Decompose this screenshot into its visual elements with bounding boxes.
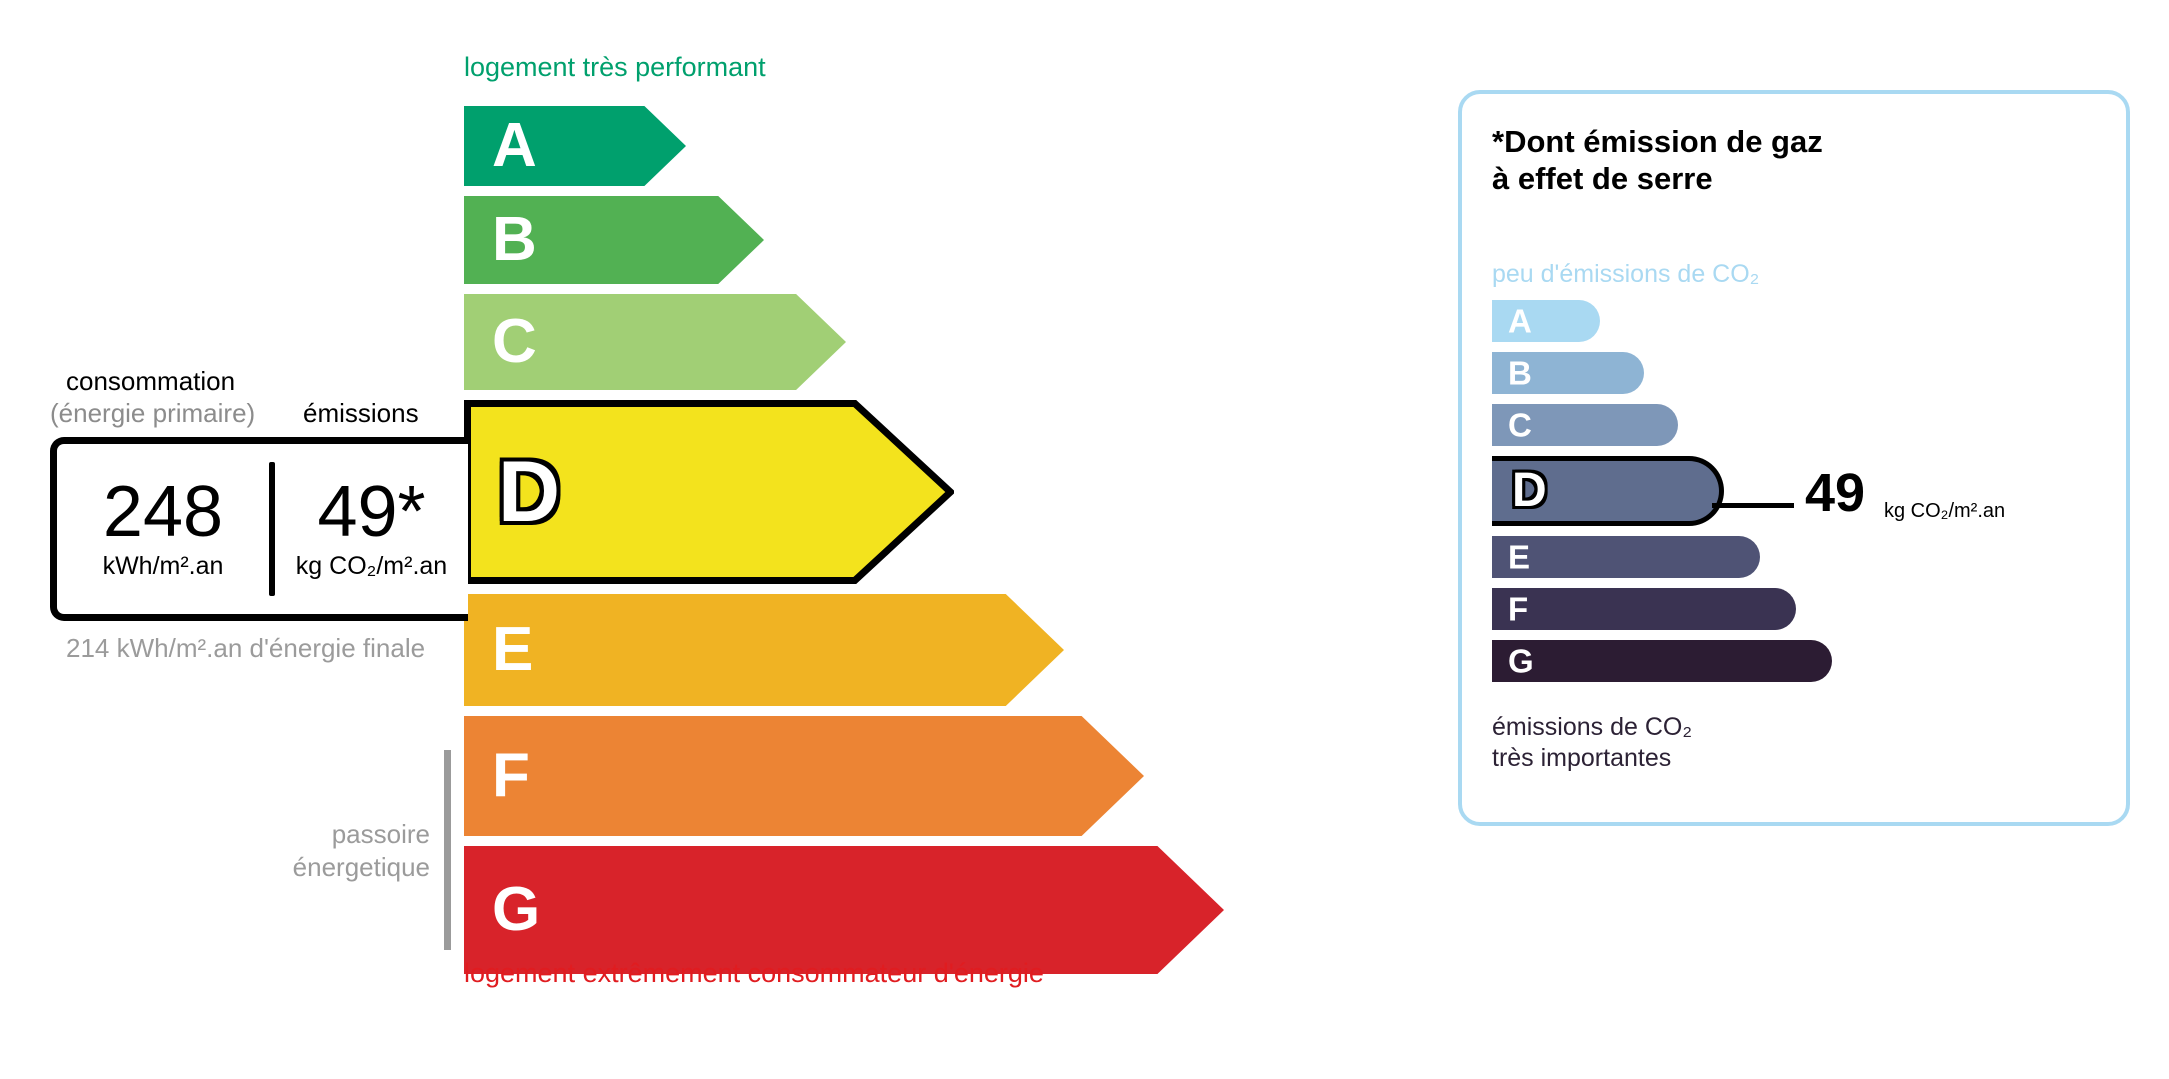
co2-bar-f: F	[1492, 588, 1796, 630]
co2-bar-d: D	[1492, 456, 1724, 526]
passoire-marker-bar	[444, 750, 451, 950]
emission-cell: 49* kg CO₂/m².an	[275, 444, 468, 614]
dpe-arrow-letter-g: G	[492, 879, 540, 941]
final-energy-note: 214 kWh/m².an d'énergie finale	[66, 632, 425, 665]
dpe-class-row-e: E	[464, 594, 1064, 706]
dpe-class-row-d: D	[464, 400, 954, 584]
co2-bar-c: C	[1492, 404, 1678, 446]
dpe-arrow-f: F	[464, 716, 1144, 836]
co2-row-c: C	[1492, 404, 1678, 446]
dpe-class-row-a: A	[464, 106, 686, 186]
dpe-arrow-b: B	[464, 196, 764, 284]
consumption-value: 248	[103, 477, 223, 548]
dpe-arrow-letter-b: B	[492, 209, 537, 271]
dpe-arrow-letter-a: A	[492, 115, 537, 177]
co2-bar-b: B	[1492, 352, 1644, 394]
passoire-label: passoire énergetique	[270, 818, 430, 885]
co2-panel-title: *Dont émission de gaz à effet de serre	[1492, 124, 1823, 197]
dpe-arrow-letter-f: F	[492, 745, 530, 807]
co2-letter-c: C	[1508, 409, 1532, 442]
label-emissions: émissions	[303, 398, 419, 429]
co2-bottom-label: émissions de CO₂ très importantes	[1492, 712, 1692, 773]
co2-letter-d: D	[1512, 467, 1547, 515]
co2-top-label: peu d'émissions de CO₂	[1492, 260, 1759, 289]
dpe-class-row-g: G	[464, 846, 1224, 974]
dpe-arrow-letter-e: E	[492, 619, 533, 681]
co2-letter-f: F	[1508, 593, 1528, 626]
dpe-top-label: logement très performant	[464, 52, 766, 83]
co2-bar-a: A	[1492, 300, 1600, 342]
co2-row-f: F	[1492, 588, 1796, 630]
dpe-class-row-b: B	[464, 196, 764, 284]
co2-row-b: B	[1492, 352, 1644, 394]
co2-leader-line	[1712, 503, 1794, 508]
dpe-arrow-e: E	[464, 594, 1064, 706]
emission-value: 49*	[317, 477, 425, 548]
co2-row-g: G	[1492, 640, 1832, 682]
co2-row-e: E	[1492, 536, 1760, 578]
co2-bar-e: E	[1492, 536, 1760, 578]
dpe-arrow-letter-d: D	[498, 449, 560, 535]
dpe-energy-ladder: logement très performant ABCDEFG passoir…	[0, 0, 1330, 1079]
co2-letter-e: E	[1508, 541, 1530, 574]
dpe-arrow-g: G	[464, 846, 1224, 974]
dpe-arrow-c: C	[464, 294, 846, 390]
emission-unit: kg CO₂/m².an	[296, 552, 447, 581]
co2-value-unit: kg CO₂/m².an	[1884, 500, 2005, 523]
co2-letter-b: B	[1508, 357, 1532, 390]
dpe-arrow-a: A	[464, 106, 686, 186]
dpe-bottom-label: logement extrêmement consommateur d'éner…	[464, 958, 1044, 989]
label-energie-primaire: (énergie primaire)	[50, 398, 255, 429]
dpe-arrow-d: D	[464, 400, 954, 584]
co2-row-d: D	[1492, 456, 1724, 526]
co2-bar-g: G	[1492, 640, 1832, 682]
dpe-arrow-letter-c: C	[492, 311, 537, 373]
co2-letter-a: A	[1508, 305, 1532, 338]
consumption-unit: kWh/m².an	[103, 552, 224, 581]
dpe-class-row-c: C	[464, 294, 846, 390]
co2-value: 49	[1805, 466, 1865, 520]
dpe-class-row-f: F	[464, 716, 1144, 836]
value-box: 248 kWh/m².an 49* kg CO₂/m².an	[50, 437, 468, 621]
co2-row-a: A	[1492, 300, 1600, 342]
label-consommation: consommation	[66, 366, 235, 397]
consumption-cell: 248 kWh/m².an	[57, 444, 269, 614]
co2-letter-g: G	[1508, 645, 1534, 678]
co2-panel: *Dont émission de gaz à effet de serre p…	[1458, 90, 2130, 826]
